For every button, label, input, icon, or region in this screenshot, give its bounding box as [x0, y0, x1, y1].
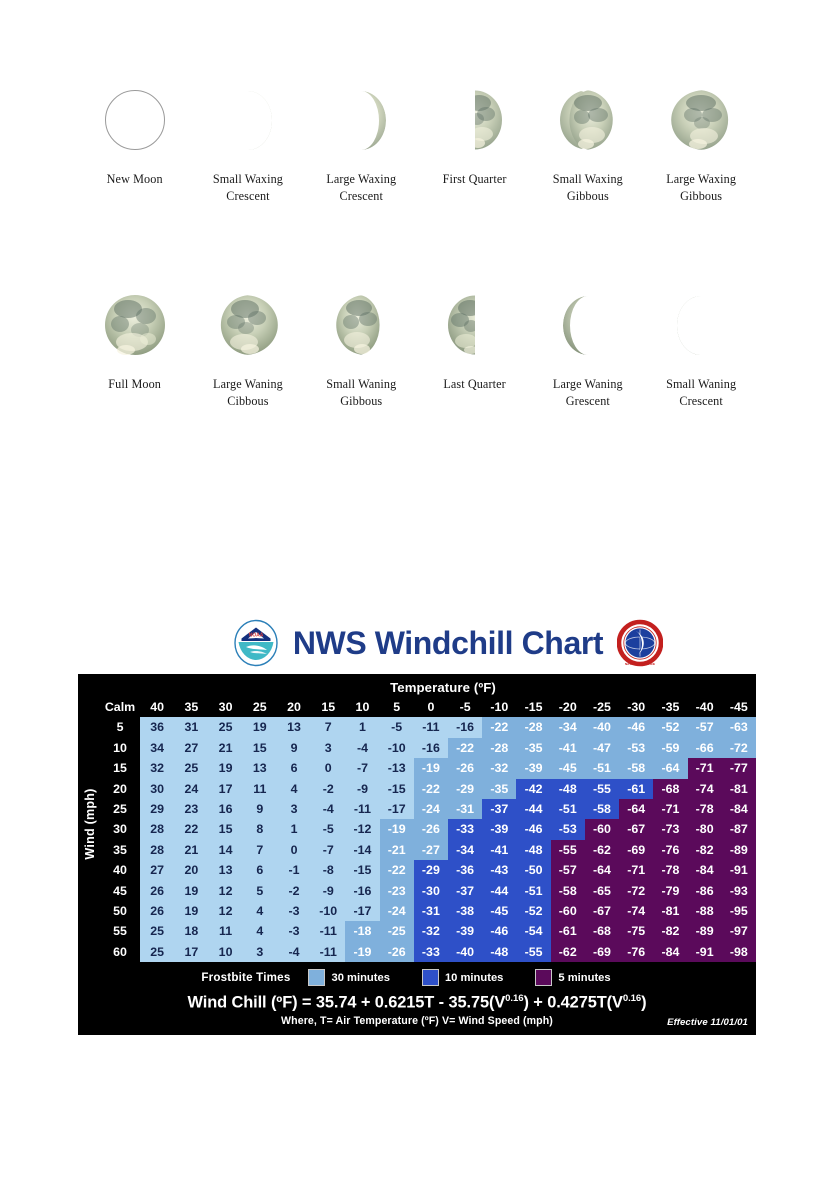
- windchill-cell: -75: [619, 921, 653, 941]
- windchill-cell: -30: [414, 881, 448, 901]
- windchill-cell: -37: [448, 881, 482, 901]
- windchill-cell: -48: [551, 779, 585, 799]
- windchill-cell: -91: [688, 942, 722, 962]
- windchill-cell: 4: [243, 921, 277, 941]
- table-row: 103427211593-4-10-16-22-28-35-41-47-53-5…: [100, 738, 756, 758]
- windchill-cell: -43: [482, 860, 516, 880]
- windchill-cell: 27: [174, 738, 208, 758]
- legend-swatch-5-minutes: [535, 969, 552, 986]
- windchill-cell: -62: [585, 840, 619, 860]
- windchill-cell: -23: [380, 881, 414, 901]
- wind-speed-row-label: 15: [100, 758, 140, 778]
- windchill-cell: -29: [448, 779, 482, 799]
- windchill-cell: 28: [140, 819, 174, 839]
- windchill-cell: -37: [482, 799, 516, 819]
- windchill-cell: -31: [414, 901, 448, 921]
- windchill-cell: 17: [174, 942, 208, 962]
- temp-column-header: 0: [414, 697, 448, 717]
- moon-phase-label: Full Moon: [108, 376, 161, 393]
- wind-speed-row-label: 60: [100, 942, 140, 962]
- windchill-cell: -87: [722, 819, 756, 839]
- temp-column-header: -10: [482, 697, 516, 717]
- windchill-cell: -18: [345, 921, 379, 941]
- wind-speed-row-label: 30: [100, 819, 140, 839]
- windchill-cell: -46: [482, 921, 516, 941]
- wind-speed-row-label: 5: [100, 717, 140, 737]
- windchill-cell: 25: [208, 717, 242, 737]
- windchill-cell: 21: [208, 738, 242, 758]
- windchill-cell: 3: [277, 799, 311, 819]
- temp-column-header: 35: [174, 697, 208, 717]
- moon-phases-section: New Moon: [78, 78, 758, 409]
- windchill-cell: -69: [619, 840, 653, 860]
- noaa-logo-icon: NOAA: [233, 619, 279, 667]
- windchill-cell: -81: [653, 901, 687, 921]
- windchill-cell: 23: [174, 799, 208, 819]
- wind-axis: Wind (mph): [78, 697, 100, 962]
- nws-windchill-chart: NOAA NWS Windchill Chart WEATHER NATIONA…: [78, 612, 756, 1035]
- windchill-cell: -72: [619, 881, 653, 901]
- windchill-cell: -32: [482, 758, 516, 778]
- windchill-cell: 12: [208, 901, 242, 921]
- windchill-title-bar: NOAA NWS Windchill Chart WEATHER NATIONA…: [78, 612, 756, 674]
- windchill-cell: 21: [174, 840, 208, 860]
- temp-column-header: 25: [243, 697, 277, 717]
- waning-gibbous-large-icon: [217, 294, 278, 356]
- windchill-cell: -27: [414, 840, 448, 860]
- windchill-cell: -11: [311, 921, 345, 941]
- wind-speed-row-label: 55: [100, 921, 140, 941]
- windchill-cell: -51: [551, 799, 585, 819]
- windchill-cell: -89: [722, 840, 756, 860]
- windchill-cell: -53: [619, 738, 653, 758]
- windchill-cell: -35: [516, 738, 550, 758]
- windchill-cell: -63: [722, 717, 756, 737]
- formula-note: Where, T= Air Temperature (ºF) V= Wind S…: [281, 1015, 553, 1027]
- windchill-cell: -11: [311, 942, 345, 962]
- windchill-cell: -35: [482, 779, 516, 799]
- moon-art-wrap: [446, 283, 504, 367]
- moon-art-wrap: [104, 78, 166, 162]
- windchill-cell: -91: [722, 860, 756, 880]
- moon-phase-label: First Quarter: [443, 171, 507, 188]
- windchill-cell: -69: [585, 942, 619, 962]
- windchill-cell: -60: [551, 901, 585, 921]
- windchill-cell: -48: [482, 942, 516, 962]
- moon-phase-full-moon: Full Moon: [78, 283, 191, 409]
- windchill-cell: -58: [585, 799, 619, 819]
- windchill-cell: -46: [619, 717, 653, 737]
- windchill-cell: -58: [619, 758, 653, 778]
- windchill-cell: -40: [448, 942, 482, 962]
- temp-column-header: 15: [311, 697, 345, 717]
- windchill-cell: -74: [688, 779, 722, 799]
- windchill-grid-wrap: Wind (mph) Calm 4035302520151050-5-10-15…: [78, 697, 756, 962]
- windchill-cell: -9: [311, 881, 345, 901]
- waning-gibbous-small-icon: [331, 294, 391, 356]
- windchill-cell: -7: [345, 758, 379, 778]
- windchill-cell: -22: [482, 717, 516, 737]
- windchill-cell: -52: [653, 717, 687, 737]
- windchill-cell: -42: [516, 779, 550, 799]
- windchill-cell: 20: [174, 860, 208, 880]
- windchill-cell: -93: [722, 881, 756, 901]
- windchill-cell: -26: [448, 758, 482, 778]
- windchill-cell: -34: [448, 840, 482, 860]
- formula-exponent-1: 0.16: [505, 993, 523, 1004]
- windchill-cell: -4: [277, 942, 311, 962]
- wind-speed-row-label: 50: [100, 901, 140, 921]
- windchill-cell: -22: [380, 860, 414, 880]
- moon-art-wrap: [558, 78, 618, 162]
- table-row: 2529231693-4-11-17-24-31-37-44-51-58-64-…: [100, 799, 756, 819]
- windchill-cell: -41: [482, 840, 516, 860]
- windchill-cell: -68: [585, 921, 619, 941]
- windchill-cell: -60: [585, 819, 619, 839]
- windchill-cell: -24: [414, 799, 448, 819]
- windchill-cell: -22: [448, 738, 482, 758]
- windchill-cell: 9: [277, 738, 311, 758]
- windchill-cell: 34: [140, 738, 174, 758]
- windchill-cell: 6: [243, 860, 277, 880]
- windchill-cell: 0: [277, 840, 311, 860]
- wind-speed-row-label: 35: [100, 840, 140, 860]
- windchill-cell: -44: [482, 881, 516, 901]
- windchill-cell: 11: [243, 779, 277, 799]
- windchill-cell: -51: [585, 758, 619, 778]
- formula-prefix: Wind Chill (ºF) = 35.74 + 0.6215T - 35.7…: [188, 994, 506, 1012]
- windchill-cell: -2: [311, 779, 345, 799]
- windchill-cell: -57: [688, 717, 722, 737]
- moon-phase-label: Large WaningCibbous: [213, 376, 283, 409]
- windchill-cell: 28: [140, 840, 174, 860]
- windchill-cell: -10: [311, 901, 345, 921]
- waxing-gibbous-large-icon: [671, 89, 732, 151]
- windchill-cell: -48: [516, 840, 550, 860]
- windchill-cell: -95: [722, 901, 756, 921]
- windchill-cell: 5: [243, 881, 277, 901]
- windchill-cell: 17: [208, 779, 242, 799]
- moon-phase-last-quarter: Last Quarter: [418, 283, 531, 409]
- wind-speed-row-label: 20: [100, 779, 140, 799]
- windchill-cell: -66: [688, 738, 722, 758]
- windchill-cell: -19: [345, 942, 379, 962]
- windchill-cell: -16: [448, 717, 482, 737]
- moon-phase-label: Small WaningGibbous: [326, 376, 396, 409]
- windchill-cell: -39: [516, 758, 550, 778]
- windchill-cell: -86: [688, 881, 722, 901]
- windchill-cell: 3: [311, 738, 345, 758]
- windchill-cell: -45: [482, 901, 516, 921]
- windchill-cell: 25: [140, 942, 174, 962]
- table-row: 3028221581-5-12-19-26-33-39-46-53-60-67-…: [100, 819, 756, 839]
- windchill-cell: -58: [551, 881, 585, 901]
- temp-column-header: 20: [277, 697, 311, 717]
- frostbite-legend: Frostbite Times 30 minutes 10 minutes 5 …: [78, 962, 756, 990]
- moon-art-wrap: [104, 283, 166, 367]
- windchill-cell: 12: [208, 881, 242, 901]
- table-row: 502619124-3-10-17-24-31-38-45-52-60-67-7…: [100, 901, 756, 921]
- temp-column-header: -40: [688, 697, 722, 717]
- svg-text:WEATHER: WEATHER: [632, 621, 648, 625]
- windchill-cell: -16: [414, 738, 448, 758]
- table-row: 3528211470-7-14-21-27-34-41-48-55-62-69-…: [100, 840, 756, 860]
- windchill-cell: -28: [516, 717, 550, 737]
- windchill-cell: -84: [653, 942, 687, 962]
- windchill-cell: -14: [345, 840, 379, 860]
- table-header-row: Calm 4035302520151050-5-10-15-20-25-30-3…: [100, 697, 756, 717]
- windchill-cell: -36: [448, 860, 482, 880]
- windchill-cell: 25: [174, 758, 208, 778]
- windchill-cell: 18: [174, 921, 208, 941]
- windchill-cell: -10: [380, 738, 414, 758]
- moon-phase-label: Last Quarter: [443, 376, 505, 393]
- windchill-cell: 13: [277, 717, 311, 737]
- table-row: 153225191360-7-13-19-26-32-39-45-51-58-6…: [100, 758, 756, 778]
- temp-column-header: -35: [653, 697, 687, 717]
- legend-swatch-30-minutes: [308, 969, 325, 986]
- calm-header: Calm: [100, 697, 140, 717]
- moon-phase-label: Small WaxingGibbous: [553, 171, 623, 204]
- windchill-cell: -33: [414, 942, 448, 962]
- table-row: 602517103-4-11-19-26-33-40-48-55-62-69-7…: [100, 942, 756, 962]
- moon-phase-label: Small WaxingCrescent: [213, 171, 283, 204]
- windchill-cell: -17: [380, 799, 414, 819]
- formula-middle: ) + 0.4275T(V: [523, 994, 622, 1012]
- windchill-cell: -57: [551, 860, 585, 880]
- windchill-cell: 26: [140, 881, 174, 901]
- windchill-cell: -25: [380, 921, 414, 941]
- windchill-cell: -76: [619, 942, 653, 962]
- windchill-cell: -71: [619, 860, 653, 880]
- table-row: 552518114-3-11-18-25-32-39-46-54-61-68-7…: [100, 921, 756, 941]
- windchill-cell: 29: [140, 799, 174, 819]
- windchill-cell: -16: [345, 881, 379, 901]
- windchill-cell: 7: [311, 717, 345, 737]
- windchill-cell: -53: [551, 819, 585, 839]
- windchill-cell: -78: [653, 860, 687, 880]
- moon-phase-label: Large WaxingGibbous: [666, 171, 736, 204]
- full-moon-icon: [104, 294, 166, 356]
- moon-phase-label: Large WaxingCrescent: [326, 171, 396, 204]
- windchill-cell: -68: [653, 779, 687, 799]
- windchill-cell: -26: [380, 942, 414, 962]
- moon-art-wrap: [331, 283, 391, 367]
- windchill-cell: -32: [414, 921, 448, 941]
- windchill-cell: -84: [722, 799, 756, 819]
- windchill-cell: 19: [174, 881, 208, 901]
- moon-phase-small-waxing-gibbous: Small WaxingGibbous: [531, 78, 644, 204]
- windchill-cell: -33: [448, 819, 482, 839]
- windchill-cell: -74: [619, 901, 653, 921]
- windchill-cell: -61: [551, 921, 585, 941]
- windchill-cell: -71: [688, 758, 722, 778]
- windchill-cell: 1: [345, 717, 379, 737]
- windchill-cell: -4: [311, 799, 345, 819]
- windchill-cell: 1: [277, 819, 311, 839]
- windchill-cell: -77: [722, 758, 756, 778]
- windchill-cell: -55: [585, 779, 619, 799]
- windchill-cell: -65: [585, 881, 619, 901]
- windchill-cell: 13: [208, 860, 242, 880]
- formula-suffix: ): [641, 994, 646, 1012]
- waning-crescent-small-icon: [677, 294, 725, 356]
- windchill-cell: -72: [722, 738, 756, 758]
- windchill-cell: -98: [722, 942, 756, 962]
- windchill-cell: -64: [619, 799, 653, 819]
- windchill-title: NWS Windchill Chart: [293, 625, 603, 662]
- windchill-cell: 11: [208, 921, 242, 941]
- moon-art-wrap: [446, 78, 504, 162]
- moon-art-wrap: [671, 78, 732, 162]
- windchill-cell: -73: [653, 819, 687, 839]
- table-row: 402720136-1-8-15-22-29-36-43-50-57-64-71…: [100, 860, 756, 880]
- moon-phases-row-2: Full Moon: [78, 283, 758, 409]
- windchill-cell: 3: [243, 942, 277, 962]
- windchill-cell: 13: [243, 758, 277, 778]
- windchill-cell: -34: [551, 717, 585, 737]
- windchill-cell: -44: [516, 799, 550, 819]
- formula-note-row: Where, T= Air Temperature (ºF) V= Wind S…: [78, 1013, 756, 1030]
- windchill-cell: -81: [722, 779, 756, 799]
- waxing-crescent-small-icon: [224, 89, 272, 151]
- temp-column-header: -30: [619, 697, 653, 717]
- windchill-cell: 7: [243, 840, 277, 860]
- moon-phase-new-moon: New Moon: [78, 78, 191, 204]
- temp-column-header: 5: [380, 697, 414, 717]
- temp-column-header: 40: [140, 697, 174, 717]
- windchill-cell: -82: [653, 921, 687, 941]
- windchill-cell: -79: [653, 881, 687, 901]
- legend-label-30-minutes: 30 minutes: [331, 972, 389, 984]
- moon-phase-label: Small WaningCrescent: [666, 376, 736, 409]
- windchill-cell: 19: [243, 717, 277, 737]
- windchill-cell: -9: [345, 779, 379, 799]
- windchill-cell: -40: [585, 717, 619, 737]
- windchill-cell: -19: [380, 819, 414, 839]
- windchill-cell: -84: [688, 860, 722, 880]
- windchill-cell: 9: [243, 799, 277, 819]
- legend-label-10-minutes: 10 minutes: [445, 972, 503, 984]
- windchill-table: Calm 4035302520151050-5-10-15-20-25-30-3…: [100, 697, 756, 962]
- table-body: 5363125191371-5-11-16-22-28-34-40-46-52-…: [100, 717, 756, 962]
- windchill-cell: 22: [174, 819, 208, 839]
- svg-text:NATIONAL SERVICE: NATIONAL SERVICE: [625, 662, 655, 666]
- windchill-cell: -3: [277, 901, 311, 921]
- windchill-cell: 31: [174, 717, 208, 737]
- waxing-crescent-large-icon: [334, 89, 388, 151]
- windchill-cell: -38: [448, 901, 482, 921]
- windchill-cell: -61: [619, 779, 653, 799]
- windchill-cell: 27: [140, 860, 174, 880]
- windchill-cell: 32: [140, 758, 174, 778]
- svg-text:NOAA: NOAA: [248, 633, 263, 639]
- windchill-cell: 10: [208, 942, 242, 962]
- moon-phase-small-waning-crescent: Small WaningCrescent: [644, 283, 757, 409]
- windchill-cell: -80: [688, 819, 722, 839]
- windchill-cell: -7: [311, 840, 345, 860]
- temp-column-header: -25: [585, 697, 619, 717]
- moon-phase-large-waxing-crescent: Large WaxingCrescent: [305, 78, 418, 204]
- wind-speed-row-label: 25: [100, 799, 140, 819]
- temp-column-header: -15: [516, 697, 550, 717]
- windchill-cell: -64: [585, 860, 619, 880]
- windchill-cell: -21: [380, 840, 414, 860]
- waning-crescent-large-icon: [561, 294, 615, 356]
- windchill-cell: -55: [516, 942, 550, 962]
- windchill-cell: -8: [311, 860, 345, 880]
- windchill-cell: -19: [414, 758, 448, 778]
- moon-phase-label: Large WaningGrescent: [553, 376, 623, 409]
- windchill-cell: -22: [414, 779, 448, 799]
- wind-axis-label: Wind (mph): [83, 786, 97, 862]
- formula-exponent-2: 0.16: [623, 993, 641, 1004]
- windchill-cell: -55: [551, 840, 585, 860]
- legend-item-30-minutes: 30 minutes: [308, 969, 389, 986]
- legend-label-5-minutes: 5 minutes: [558, 972, 610, 984]
- windchill-cell: 16: [208, 799, 242, 819]
- windchill-cell: -26: [414, 819, 448, 839]
- windchill-cell: -4: [345, 738, 379, 758]
- moon-art-wrap: [217, 283, 278, 367]
- windchill-cell: -64: [653, 758, 687, 778]
- windchill-cell: -13: [380, 758, 414, 778]
- windchill-cell: 36: [140, 717, 174, 737]
- windchill-cell: -3: [277, 921, 311, 941]
- windchill-cell: 8: [243, 819, 277, 839]
- frostbite-legend-title: Frostbite Times: [201, 971, 290, 984]
- windchill-cell: -59: [653, 738, 687, 758]
- windchill-cell: -46: [516, 819, 550, 839]
- windchill-cell: -5: [380, 717, 414, 737]
- windchill-cell: -52: [516, 901, 550, 921]
- legend-item-10-minutes: 10 minutes: [422, 969, 503, 986]
- temp-column-header: 10: [345, 697, 379, 717]
- moon-art-wrap: [334, 78, 388, 162]
- windchill-formula: Wind Chill (ºF) = 35.74 + 0.6215T - 35.7…: [78, 990, 756, 1012]
- windchill-cell: -15: [380, 779, 414, 799]
- temp-column-header: -45: [722, 697, 756, 717]
- moon-art-wrap: [561, 283, 615, 367]
- moon-phase-large-waning-crescent: Large WaningGrescent: [531, 283, 644, 409]
- windchill-cell: -67: [585, 901, 619, 921]
- windchill-cell: 4: [277, 779, 311, 799]
- windchill-cell: 15: [243, 738, 277, 758]
- new-moon-icon: [104, 89, 166, 151]
- moon-phases-row-1: New Moon: [78, 78, 758, 204]
- moon-art-wrap: [224, 78, 272, 162]
- windchill-cell: -54: [516, 921, 550, 941]
- wind-speed-row-label: 10: [100, 738, 140, 758]
- windchill-cell: -88: [688, 901, 722, 921]
- table-row: 452619125-2-9-16-23-30-37-44-51-58-65-72…: [100, 881, 756, 901]
- windchill-cell: -2: [277, 881, 311, 901]
- legend-swatch-10-minutes: [422, 969, 439, 986]
- windchill-cell: 26: [140, 901, 174, 921]
- windchill-cell: -82: [688, 840, 722, 860]
- windchill-cell: -39: [482, 819, 516, 839]
- windchill-cell: -31: [448, 799, 482, 819]
- temp-column-header: 30: [208, 697, 242, 717]
- table-row: 20302417114-2-9-15-22-29-35-42-48-55-61-…: [100, 779, 756, 799]
- waxing-gibbous-small-icon: [558, 89, 618, 151]
- windchill-cell: -41: [551, 738, 585, 758]
- windchill-cell: 0: [311, 758, 345, 778]
- windchill-cell: -17: [345, 901, 379, 921]
- moon-phase-large-waning-gibbous: Large WaningCibbous: [191, 283, 304, 409]
- legend-item-5-minutes: 5 minutes: [535, 969, 610, 986]
- windchill-cell: -89: [688, 921, 722, 941]
